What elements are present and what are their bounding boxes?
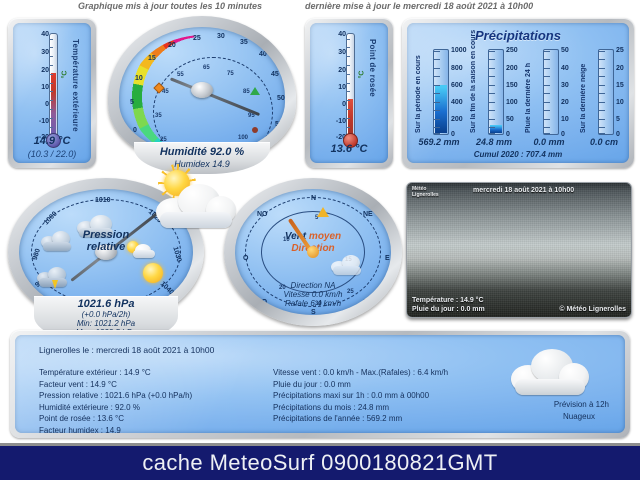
- precip-bar-snow[interactable]: Sur la dernière neige 25 20 15 10 5 0: [578, 49, 629, 135]
- precipitation-title: Précipitations: [407, 28, 629, 43]
- header-right-text: dernière mise à jour le mercredi 18 août…: [305, 1, 533, 11]
- humidity-needle-hub: [191, 82, 213, 98]
- precip-bar-snow-axis: Sur la dernière neige: [580, 53, 587, 133]
- wind-cardinal-s: S: [311, 309, 316, 315]
- wind-gauge[interactable]: N S E O NE NO SE SO 5 10 15 20 25 30: [224, 178, 402, 326]
- precip-bar-24h-axis: Pluie la dernière 24 h: [525, 53, 532, 133]
- humidity-current-marker: [252, 127, 258, 133]
- wind-title-word-moyen: moyen: [309, 231, 341, 242]
- forecast-cloud-icon: [511, 349, 589, 395]
- weather-dashboard: Graphique mis à jour toutes les 10 minut…: [0, 0, 640, 480]
- precip-bar-year[interactable]: Sur la période en cours 1000 800 600 400…: [413, 49, 465, 135]
- precip-value-year: 569.2 mm: [413, 137, 465, 147]
- sun-icon: [143, 263, 163, 283]
- forecast-text: Nuageux: [563, 412, 595, 421]
- pressure-delta: (+0.0 hPa/2h): [34, 310, 178, 319]
- footer-bar: cache MeteoSurf 0900180821GMT: [0, 446, 640, 480]
- webcam-logo: MétéoLignerolles: [412, 186, 439, 198]
- summary-row-rain-today: Pluie du jour : 0.0 mm: [273, 379, 448, 391]
- wind-direction-value: Direction NA: [235, 281, 391, 290]
- summary-row-wind: Vitesse vent : 0.0 km/h - Max.(Rafales) …: [273, 367, 448, 379]
- dewpoint-panel[interactable]: 40 30 20 10 0 -10 -20 Point de ros: [305, 18, 393, 168]
- outdoor-temp-minor-ticks: [49, 33, 58, 137]
- outdoor-temperature-panel[interactable]: 40 30 20 10 0 -10 -20 Température: [8, 18, 96, 168]
- precipitation-cumul: Cumul 2020 : 707.4 mm: [407, 150, 629, 159]
- humidity-gauge[interactable]: 0 5 10 15 20 25 30 35 40 45 50 55 60 25 …: [108, 16, 296, 164]
- center-weather-emblem: [150, 166, 242, 236]
- humidity-max-marker: [250, 87, 260, 95]
- summary-row-pressure: Pression relative : 1021.6 hPa (+0.0 hPa…: [39, 390, 192, 402]
- precip-bar-month[interactable]: Sur la fin de la saison en cours 250 200…: [468, 49, 520, 135]
- webcam-timestamp: mercredi 18 août 2021 à 10h00: [473, 187, 574, 194]
- dewpoint-title: Point de rosée: [368, 39, 377, 97]
- outdoor-temp-range: (10.3 / 22.0): [13, 149, 91, 159]
- outdoor-temp-title: Température extérieure: [71, 39, 80, 132]
- outdoor-temp-value: 14.9 °C: [13, 135, 91, 147]
- summary-row-rain-month: Précipitations du mois : 24.8 mm: [273, 402, 448, 414]
- emblem-cloud-icon: [156, 182, 236, 228]
- outdoor-temp-unit-mark: °C: [61, 71, 68, 79]
- precip-bar-24h[interactable]: Pluie la dernière 24 h 50 40 30 20 10 0: [523, 49, 575, 135]
- wind-cardinal-n: N: [311, 195, 316, 202]
- precip-bar-snow-ticks: 25 20 15 10 5 0: [616, 45, 629, 139]
- wind-cardinal-e: E: [385, 255, 390, 262]
- wind-cardinal-ne: NE: [363, 211, 373, 218]
- summary-row-dewpoint: Point de rosée : 13.6 °C: [39, 413, 192, 425]
- dewpoint-value: 13.6 °C: [310, 143, 388, 155]
- webcam-rain-overlay: Pluie du jour : 0.0 mm: [412, 306, 485, 313]
- summary-right-column: Vitesse vent : 0.0 km/h - Max.(Rafales) …: [273, 367, 448, 425]
- precip-value-snow: 0.0 cm: [578, 137, 629, 147]
- precipitation-panel[interactable]: Précipitations Sur la période en cours 1…: [402, 18, 634, 168]
- storm-cloud-icon: [37, 267, 71, 287]
- summary-row-rain-max-1h: Précipitations maxi sur 1h : 0.0 mm à 00…: [273, 390, 448, 402]
- webcam-copyright: © Météo Lignerolles: [559, 306, 626, 313]
- header-left-text: Graphique mis à jour toutes les 10 minut…: [78, 1, 262, 11]
- summary-row-windchill: Facteur vent : 14.9 °C: [39, 379, 192, 391]
- header-strip: Graphique mis à jour toutes les 10 minut…: [0, 0, 640, 13]
- summary-location-line: Lignerolles le : mercredi 18 août 2021 à…: [39, 345, 214, 355]
- pressure-title-line2: relative: [19, 241, 193, 253]
- summary-row-humidity: Humidité extérieure : 92.0 %: [39, 402, 192, 414]
- wind-north-marker: [317, 207, 329, 217]
- summary-row-rain-year: Précipitations de l'année : 569.2 mm: [273, 413, 448, 425]
- footer-text: cache MeteoSurf 0900180821GMT: [142, 450, 497, 476]
- precipitation-bars: Sur la période en cours 1000 800 600 400…: [413, 49, 629, 135]
- outdoor-temp-scale: 40 30 20 10 0 -10 -20: [33, 29, 49, 141]
- wind-needle-hub: [307, 246, 319, 258]
- humidity-value-label: Humidité 92.0 %: [134, 146, 270, 158]
- wind-gust-value: Rafale 6.4 km/h: [235, 299, 391, 308]
- summary-row-humidex: Facteur humidex : 14.9: [39, 425, 192, 434]
- wind-cardinal-no: NO: [257, 211, 268, 218]
- summary-row-temp: Température extérieur : 14.9 °C: [39, 367, 192, 379]
- wind-title-line1: Vent moyen: [235, 231, 391, 242]
- precip-bar-year-axis: Sur la période en cours: [415, 53, 422, 133]
- wind-speed-value: Vitesse 0.0 km/h: [235, 290, 391, 299]
- wind-cloud-icon: [331, 255, 365, 275]
- forecast-label: Prévision à 12h: [554, 400, 609, 409]
- precip-value-24h: 0.0 mm: [523, 137, 575, 147]
- wind-cardinal-o: O: [243, 255, 248, 262]
- webcam-image[interactable]: MétéoLignerolles mercredi 18 août 2021 à…: [406, 182, 632, 318]
- dewpoint-minor-ticks: [346, 33, 355, 137]
- pressure-min: Min: 1021.2 hPa: [34, 319, 178, 328]
- precip-bar-month-axis: Sur la fin de la saison en cours: [470, 53, 477, 133]
- pressure-value: 1021.6 hPa: [34, 298, 178, 310]
- webcam-temp-overlay: Température : 14.9 °C: [412, 297, 484, 304]
- summary-left-column: Température extérieur : 14.9 °C Facteur …: [39, 367, 192, 433]
- dewpoint-scale: 40 30 20 10 0 -10 -20: [330, 29, 346, 141]
- precip-value-month: 24.8 mm: [468, 137, 520, 147]
- dewpoint-unit-mark: °C: [358, 71, 365, 79]
- summary-panel[interactable]: Lignerolles le : mercredi 18 août 2021 à…: [10, 330, 630, 438]
